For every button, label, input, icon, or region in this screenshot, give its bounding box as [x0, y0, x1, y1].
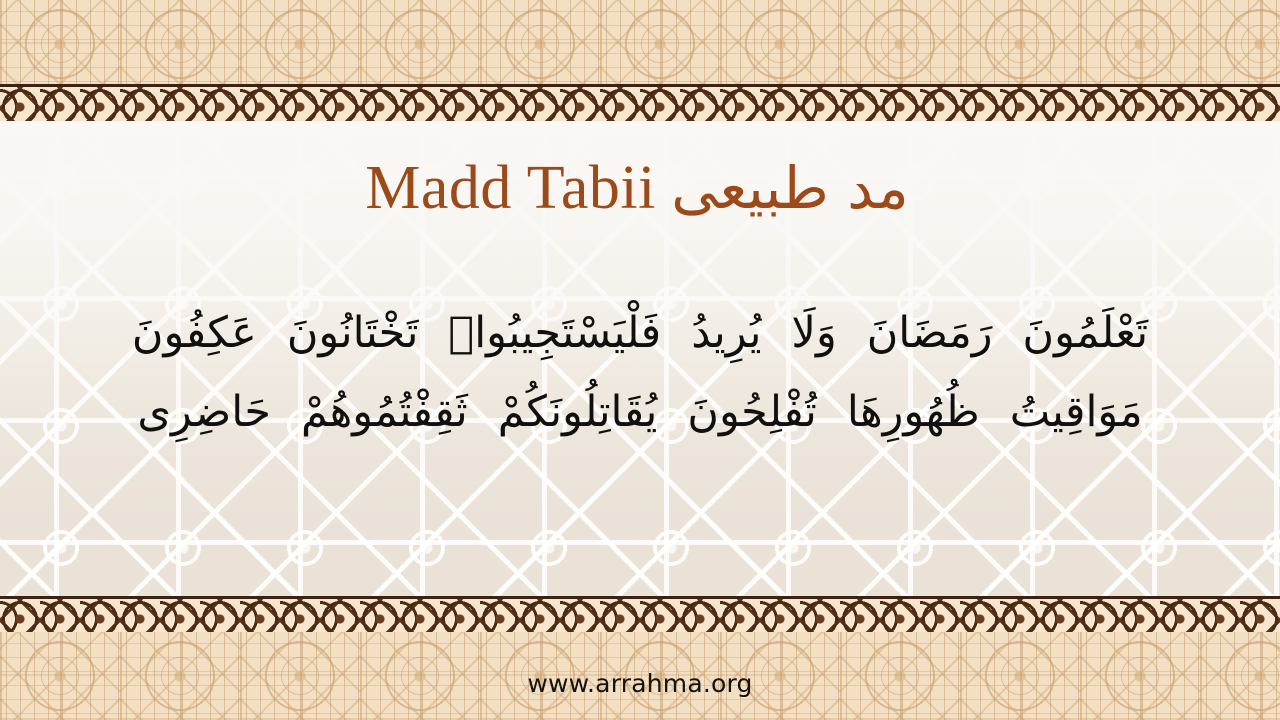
- page-title: Madd Tabii مد طبيعى: [0, 156, 1280, 221]
- arabic-word: يُقَاتِلُونَكُمْ: [498, 379, 658, 446]
- arabic-word: عَكِفُونَ: [132, 300, 257, 367]
- arabic-word: مَوَاقِيتُ: [1010, 379, 1143, 446]
- arabic-word: يُرِيدُ: [691, 300, 761, 367]
- arabic-word: رَمَضَانَ: [867, 300, 993, 367]
- guilloche-center-dots: [0, 599, 1280, 633]
- arabic-word: وَلَا: [791, 300, 836, 367]
- bottom-guilloche-divider: [0, 596, 1280, 636]
- arabic-word: ثَقِفْتُمُوهُمْ: [301, 379, 468, 446]
- slide-canvas: Madd Tabii مد طبيعى تَعْلَمُونَ رَمَضَان…: [0, 0, 1280, 720]
- arabic-word: تُفْلِحُونَ: [687, 379, 817, 446]
- footer-website-url: www.arrahma.org: [0, 669, 1280, 698]
- arabic-word: حَاضِرِى: [137, 379, 271, 446]
- title-english-text: Madd Tabii: [365, 154, 656, 222]
- arabic-word-rows: تَعْلَمُونَ رَمَضَانَ وَلَا يُرِيدُ فَلْ…: [0, 300, 1280, 457]
- guilloche-center-dots: [0, 87, 1280, 121]
- arabic-word: تَخْتَانُونَ: [287, 300, 419, 367]
- arabic-word: فَلْيَسْتَجِيبُوا۟: [448, 300, 661, 367]
- title-arabic-text: مد طبيعى: [671, 154, 908, 222]
- top-ornamental-band: [0, 0, 1280, 88]
- arabic-word: ظُهُورِهَا: [847, 379, 980, 446]
- top-guilloche-divider: [0, 84, 1280, 124]
- word-row: مَوَاقِيتُ ظُهُورِهَا تُفْلِحُونَ يُقَات…: [20, 379, 1260, 446]
- arabic-word: تَعْلَمُونَ: [1023, 300, 1149, 367]
- word-row: تَعْلَمُونَ رَمَضَانَ وَلَا يُرِيدُ فَلْ…: [20, 300, 1260, 367]
